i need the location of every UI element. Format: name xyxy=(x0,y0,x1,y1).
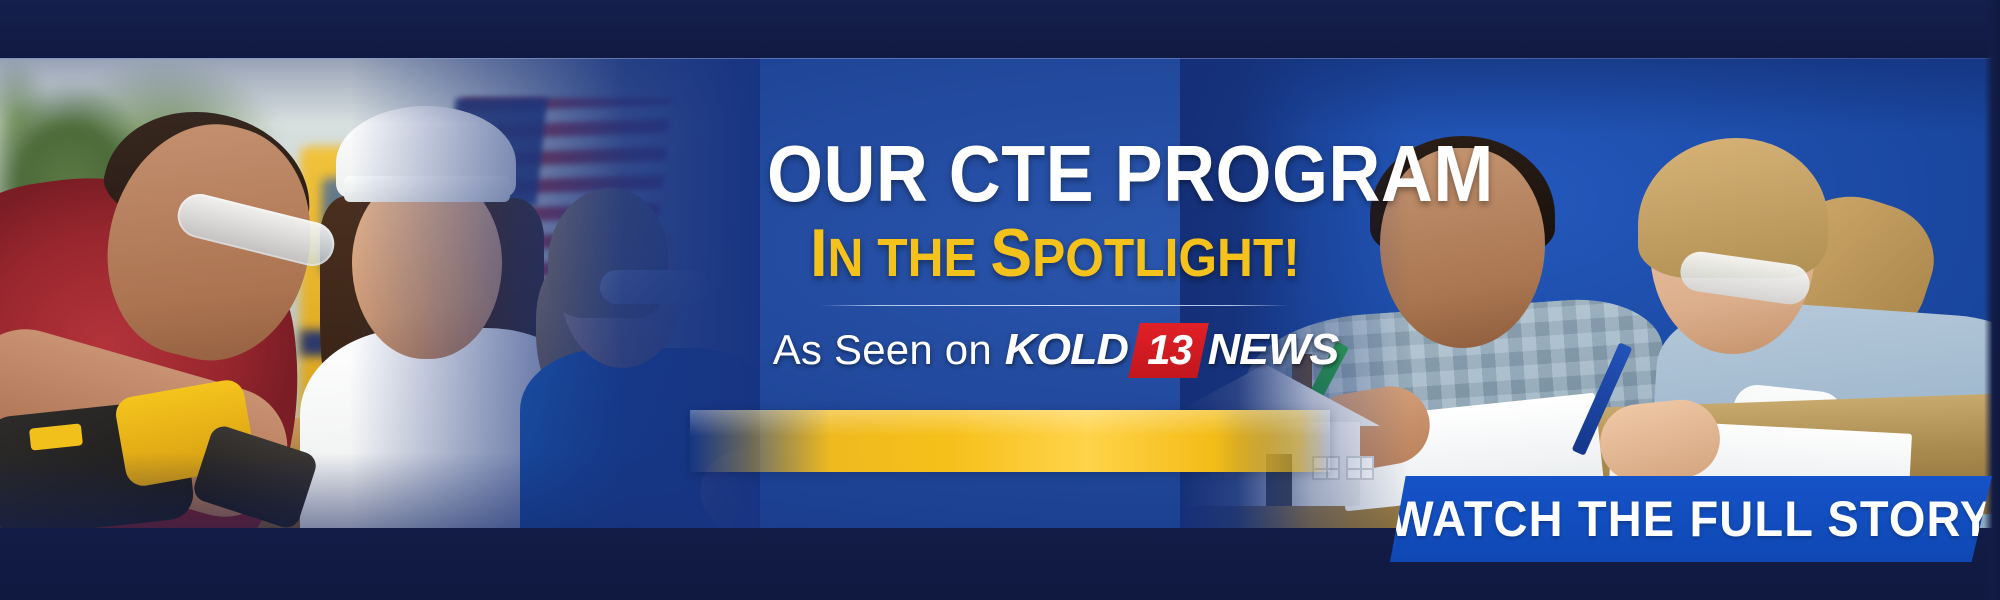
kold-wordmark: KOLD xyxy=(1005,325,1128,375)
kold-13-news-logo: KOLD 13 NEWS xyxy=(1006,323,1337,378)
channel-13-badge: 13 xyxy=(1128,323,1208,378)
news-wordmark: NEWS xyxy=(1208,325,1339,375)
page-title: OUR CTE PROGRAM xyxy=(767,136,1343,213)
watch-full-story-button[interactable]: WATCH THE FULL STORY xyxy=(1390,476,1992,562)
subheadline: IN THE SPOTLIGHT! xyxy=(761,219,1350,287)
left-photo-montage xyxy=(0,58,760,528)
subheadline-potlight: POTLIGHT! xyxy=(1032,228,1300,288)
cte-spotlight-banner: OUR CTE PROGRAM IN THE SPOTLIGHT! As See… xyxy=(0,0,2000,600)
as-seen-on-label: As Seen on xyxy=(773,326,992,374)
subheadline-n-the: N THE xyxy=(828,228,991,288)
banner-copy-block: OUR CTE PROGRAM IN THE SPOTLIGHT! As See… xyxy=(735,136,1375,378)
subheadline-cap-i: I xyxy=(810,215,827,291)
right-edge-shade xyxy=(1984,0,2000,600)
channel-number: 13 xyxy=(1147,326,1192,374)
as-seen-on-row: As Seen on KOLD 13 NEWS xyxy=(735,323,1375,378)
left-photo-blue-fade xyxy=(0,58,760,528)
gold-accent-bar xyxy=(690,410,1330,472)
top-navy-bar xyxy=(0,0,2000,58)
subheadline-cap-s: S xyxy=(990,215,1032,291)
banner-background: OUR CTE PROGRAM IN THE SPOTLIGHT! As See… xyxy=(0,58,2000,528)
watch-full-story-label: WATCH THE FULL STORY xyxy=(1389,490,1992,548)
horizontal-divider xyxy=(820,305,1290,306)
